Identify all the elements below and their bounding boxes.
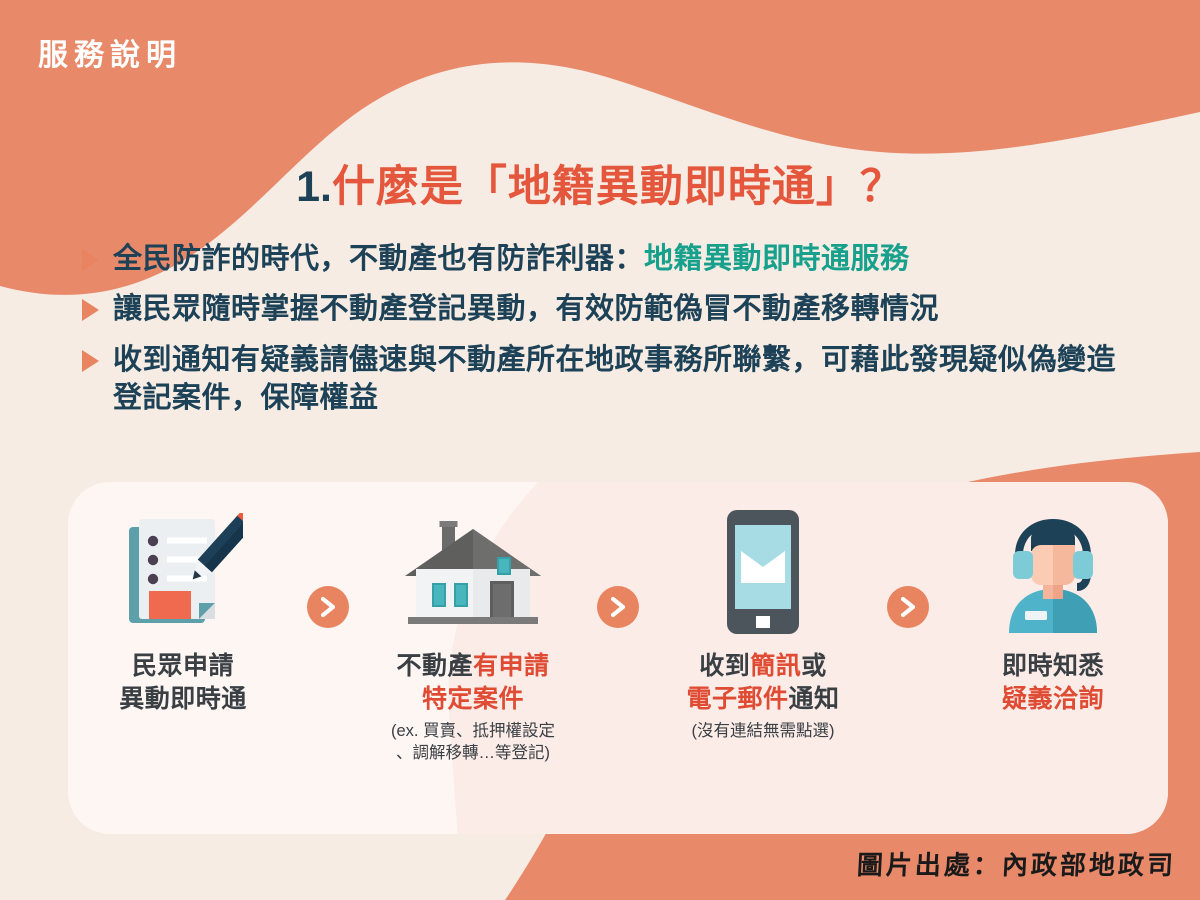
step-label-line2: 異動即時通 (119, 685, 247, 713)
step-label-line1: 即時知悉 (1002, 652, 1104, 680)
process-arrow-1 (288, 508, 368, 628)
step-label-line1-highlight: 簡訊 (750, 652, 801, 680)
main-heading: 1.什麼是「地籍異動即時通」？ (0, 152, 1200, 214)
step-label-line2-highlight: 電子郵件 (686, 685, 788, 713)
triangle-right-icon (82, 249, 99, 271)
step-label-line2-highlight: 特定案件 (422, 685, 524, 713)
heading-text: 什麼是「地籍異動即時通」？ (332, 163, 904, 211)
document-pencil-icon (78, 508, 288, 636)
process-arrow-3 (868, 508, 948, 628)
process-flow-card: 民眾申請 異動即時通 (68, 482, 1168, 834)
bullet-item: 收到通知有疑義請儘速與不動產所在地政事務所聯繫，可藉此發現疑似偽變造登記案件，保… (82, 341, 1142, 418)
process-step-3-label: 收到簡訊或 電子郵件通知 (658, 650, 868, 716)
heading-number: 1. (296, 163, 332, 211)
chevron-right-icon (597, 586, 639, 628)
process-arrow-2 (578, 508, 658, 628)
step-label-line1: 民眾申請 (132, 652, 234, 680)
step-label-line1-tail: 或 (801, 652, 827, 680)
chevron-right-icon (307, 586, 349, 628)
headset-agent-icon (948, 508, 1158, 636)
chevron-right-icon (887, 586, 929, 628)
bullet-text-part: 讓民眾隨時掌握不動產登記異動，有效防範偽冒不動產移轉情況 (113, 293, 939, 325)
process-step-3: 收到簡訊或 電子郵件通知 (沒有連結無需點選) (658, 508, 868, 742)
step-label-line1-highlight: 有申請 (473, 652, 550, 680)
bullet-text-part: 收到通知有疑義請儘速與不動產所在地政事務所聯繫，可藉此發現疑似偽變造登記案件，保… (113, 344, 1116, 414)
step-label-line2-highlight: 疑義洽詢 (1002, 685, 1104, 713)
bullet-text-part: 全民防詐的時代，不動產也有防詐利器： (113, 243, 644, 275)
process-step-4-label: 即時知悉 疑義洽詢 (948, 650, 1158, 716)
process-step-1: 民眾申請 異動即時通 (78, 508, 288, 716)
page-title: 服務說明 (38, 30, 182, 74)
process-step-2-sub: (ex. 買賣、抵押權設定 、調解移轉…等登記) (368, 720, 578, 765)
bullet-text: 收到通知有疑義請儘速與不動產所在地政事務所聯繫，可藉此發現疑似偽變造登記案件，保… (113, 341, 1142, 418)
triangle-right-icon (82, 350, 99, 372)
bullet-item: 全民防詐的時代，不動產也有防詐利器：地籍異動即時通服務 (82, 240, 1142, 278)
bullet-item: 讓民眾隨時掌握不動產登記異動，有效防範偽冒不動產移轉情況 (82, 290, 1142, 328)
step-label-line1: 不動產 (396, 652, 473, 680)
image-credit: 圖片出處：內政部地政司 (856, 845, 1177, 882)
process-step-1-label: 民眾申請 異動即時通 (78, 650, 288, 716)
process-step-3-sub: (沒有連結無需點選) (658, 720, 868, 742)
process-step-4: 即時知悉 疑義洽詢 (948, 508, 1158, 716)
bullet-text: 讓民眾隨時掌握不動產登記異動，有效防範偽冒不動產移轉情況 (113, 290, 939, 328)
step-label-line1: 收到 (699, 652, 750, 680)
step-label-line2-tail: 通知 (789, 685, 840, 713)
triangle-right-icon (82, 299, 99, 321)
process-step-2: 不動產有申請 特定案件 (ex. 買賣、抵押權設定 、調解移轉…等登記) (368, 508, 578, 765)
slide-root: 服務說明 1.什麼是「地籍異動即時通」？ 全民防詐的時代，不動產也有防詐利器：地… (0, 0, 1200, 900)
process-step-2-label: 不動產有申請 特定案件 (368, 650, 578, 716)
phone-mail-icon (658, 508, 868, 636)
bullet-text-highlight: 地籍異動即時通服務 (644, 243, 910, 275)
bullet-list: 全民防詐的時代，不動產也有防詐利器：地籍異動即時通服務 讓民眾隨時掌握不動產登記… (82, 240, 1142, 429)
house-icon (368, 508, 578, 636)
bullet-text: 全民防詐的時代，不動產也有防詐利器：地籍異動即時通服務 (113, 240, 910, 278)
